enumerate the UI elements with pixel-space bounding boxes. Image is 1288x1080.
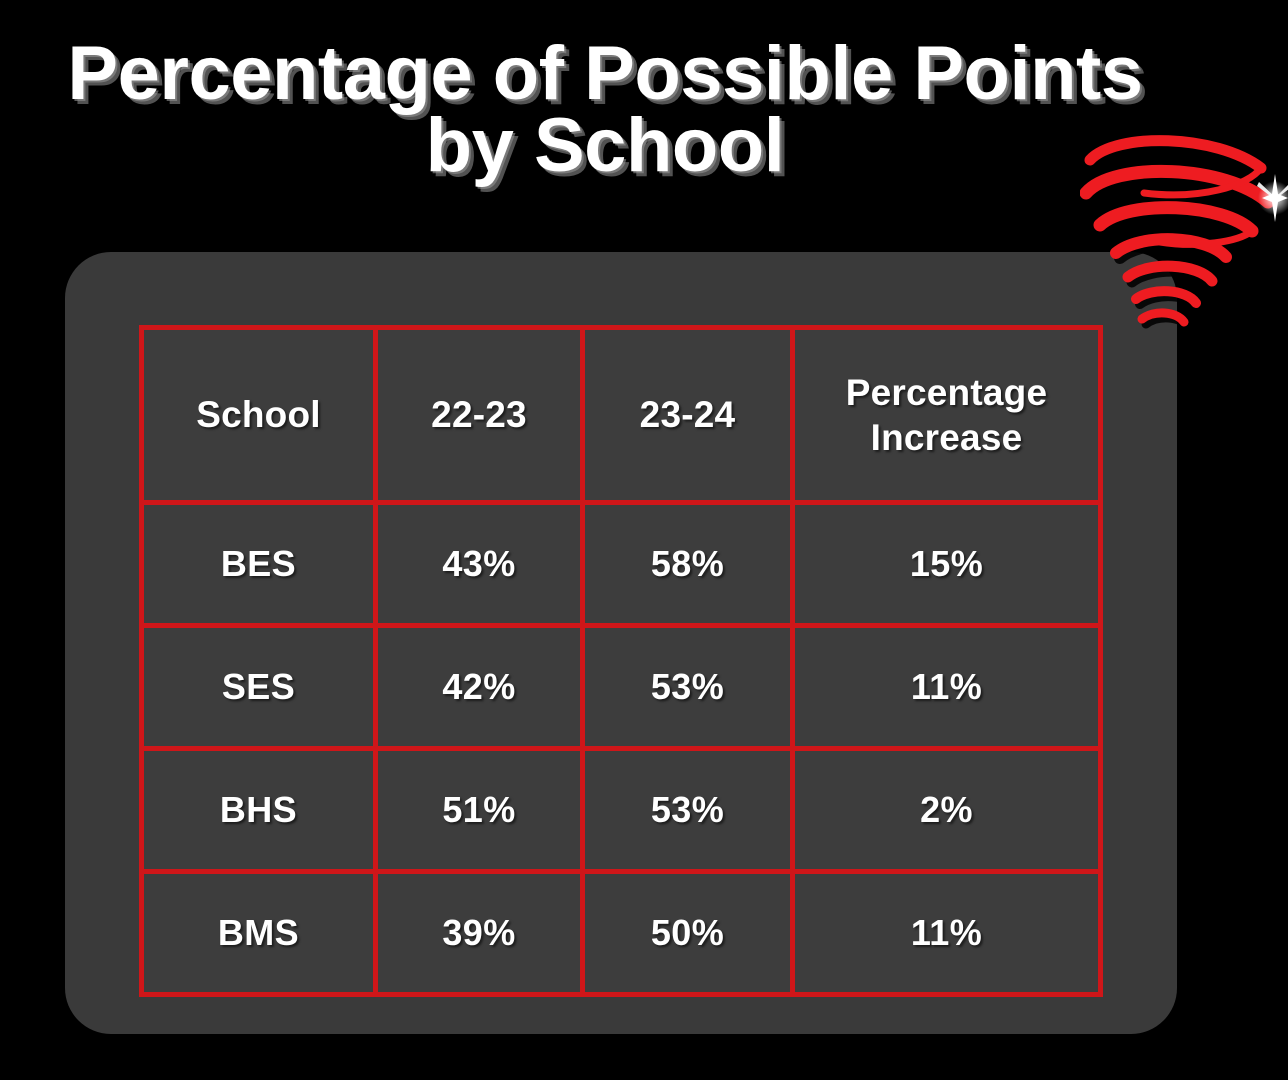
cell-school: BES	[142, 503, 376, 626]
table-row: BES 43% 58% 15%	[142, 503, 1101, 626]
sparkle-icon	[1257, 174, 1288, 222]
percentage-points-table-container: School 22-23 23-24 Percentage Increase B…	[139, 325, 1098, 969]
table-header-row: School 22-23 23-24 Percentage Increase	[142, 328, 1101, 503]
column-header-percentage-increase-line-1: Percentage	[795, 370, 1098, 415]
page-title-line-1: Percentage of Possible Points	[0, 38, 1210, 110]
page-title: Percentage of Possible Points by School	[0, 38, 1210, 182]
cell-2223: 43%	[376, 503, 583, 626]
cell-2324: 58%	[583, 503, 793, 626]
percentage-points-table: School 22-23 23-24 Percentage Increase B…	[139, 325, 1103, 997]
cell-2324: 50%	[583, 872, 793, 995]
table-row: BHS 51% 53% 2%	[142, 749, 1101, 872]
cell-2324: 53%	[583, 749, 793, 872]
table-row: BMS 39% 50% 11%	[142, 872, 1101, 995]
cell-school: SES	[142, 626, 376, 749]
column-header-2223: 22-23	[376, 328, 583, 503]
cell-2324: 53%	[583, 626, 793, 749]
page-title-line-2: by School	[0, 110, 1210, 182]
table-row: SES 42% 53% 11%	[142, 626, 1101, 749]
column-header-school: School	[142, 328, 376, 503]
cell-2223: 42%	[376, 626, 583, 749]
cell-2223: 51%	[376, 749, 583, 872]
cell-school: BHS	[142, 749, 376, 872]
cell-2223: 39%	[376, 872, 583, 995]
column-header-2324: 23-24	[583, 328, 793, 503]
cell-increase: 15%	[793, 503, 1101, 626]
column-header-percentage-increase-line-2: Increase	[795, 415, 1098, 460]
cell-increase: 11%	[793, 872, 1101, 995]
cell-school: BMS	[142, 872, 376, 995]
column-header-percentage-increase: Percentage Increase	[793, 328, 1101, 503]
cell-increase: 2%	[793, 749, 1101, 872]
cell-increase: 11%	[793, 626, 1101, 749]
